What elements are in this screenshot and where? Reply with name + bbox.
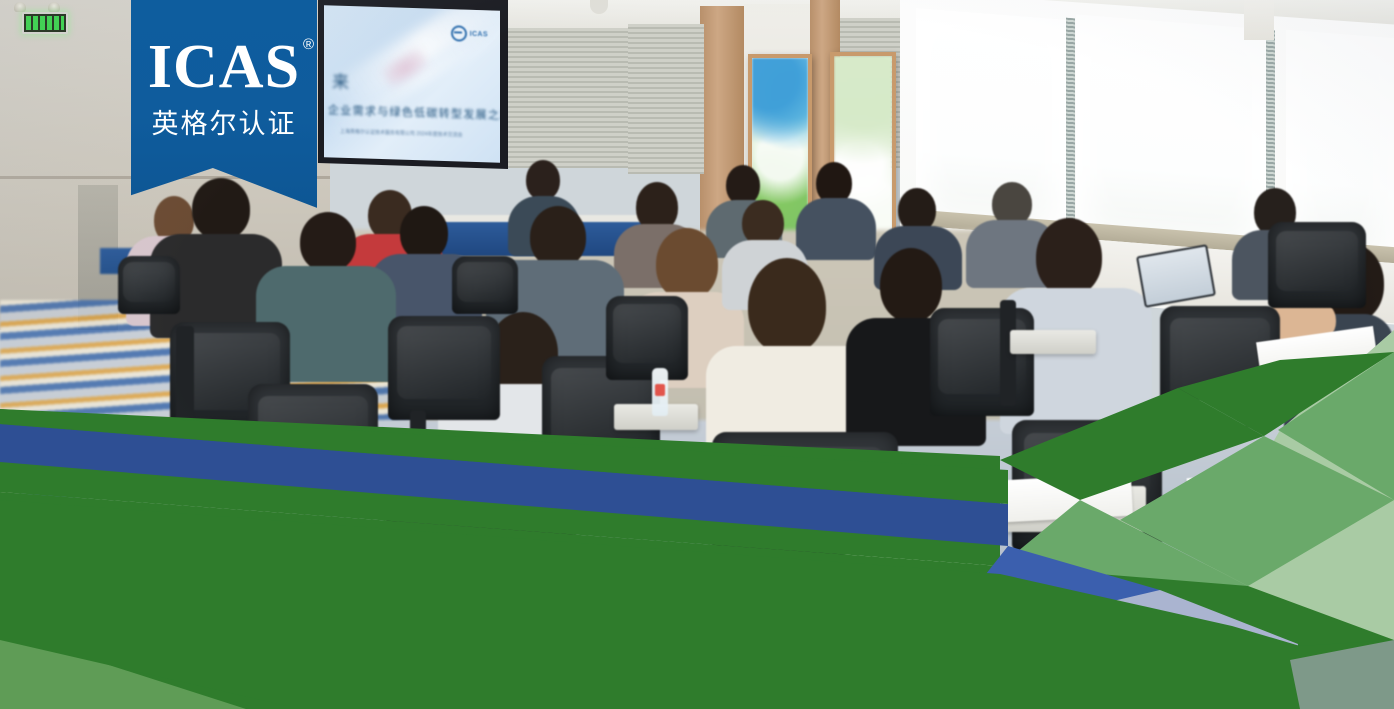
registered-trademark-icon: ®	[303, 38, 315, 52]
event-banner: ICAS 来 企业需求与绿色低碳转型发展之路 上海英格尔认证技术服务有限公司 2…	[0, 0, 1394, 709]
icas-wordmark-text: ICAS	[148, 33, 300, 101]
icas-chinese-name: 英格尔认证	[152, 102, 297, 141]
icas-wordmark: ICAS ®	[148, 38, 300, 98]
